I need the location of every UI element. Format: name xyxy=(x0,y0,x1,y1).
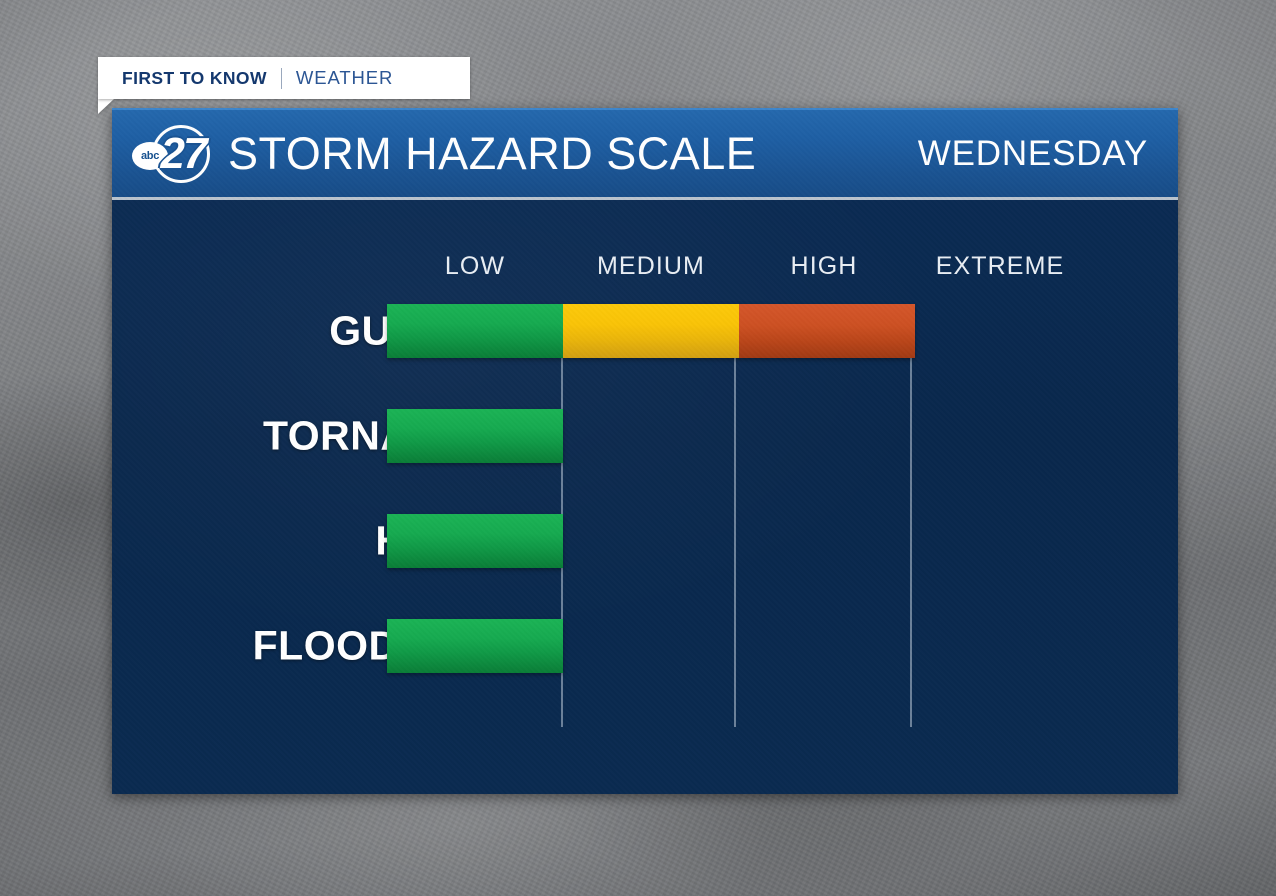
abc27-logo: abc 27 xyxy=(126,123,218,185)
column-header-high: HIGH xyxy=(791,252,858,281)
bar-segment-low xyxy=(387,409,563,463)
tab-tail xyxy=(98,99,114,114)
column-header-extreme: EXTREME xyxy=(936,252,1065,281)
column-header-low: LOW xyxy=(445,252,505,281)
first-to-know-weather-tab: FIRST TO KNOW WEATHER xyxy=(98,57,470,99)
hazard-bar-tornado xyxy=(387,409,563,463)
hazard-row: TORNADO xyxy=(112,409,1178,463)
tab-divider xyxy=(281,68,282,89)
hazard-row: HAIL xyxy=(112,514,1178,568)
forecast-day-label: WEDNESDAY xyxy=(918,134,1148,174)
bar-segment-high xyxy=(739,304,915,358)
bar-segment-medium xyxy=(563,304,739,358)
tab-primary-label: FIRST TO KNOW xyxy=(122,68,267,89)
bar-segment-low xyxy=(387,619,563,673)
hazard-bar-flooding xyxy=(387,619,563,673)
panel-header: abc 27 STORM HAZARD SCALE WEDNESDAY xyxy=(112,108,1178,200)
column-header-medium: MEDIUM xyxy=(597,252,705,281)
hazard-bar-gusts xyxy=(387,304,915,358)
bar-segment-low xyxy=(387,514,563,568)
channel-number: 27 xyxy=(159,126,207,182)
page-title: STORM HAZARD SCALE xyxy=(228,128,756,180)
hazard-row: FLOODING xyxy=(112,619,1178,673)
storm-hazard-panel: abc 27 STORM HAZARD SCALE WEDNESDAY LOWM… xyxy=(112,108,1178,794)
bar-segment-low xyxy=(387,304,563,358)
hazard-bar-hail xyxy=(387,514,563,568)
tab-secondary-label: WEATHER xyxy=(296,67,393,89)
hazard-scale-grid: LOWMEDIUMHIGHEXTREMEGUSTSTORNADOHAILFLOO… xyxy=(112,200,1178,794)
hazard-row: GUSTS xyxy=(112,304,1178,358)
